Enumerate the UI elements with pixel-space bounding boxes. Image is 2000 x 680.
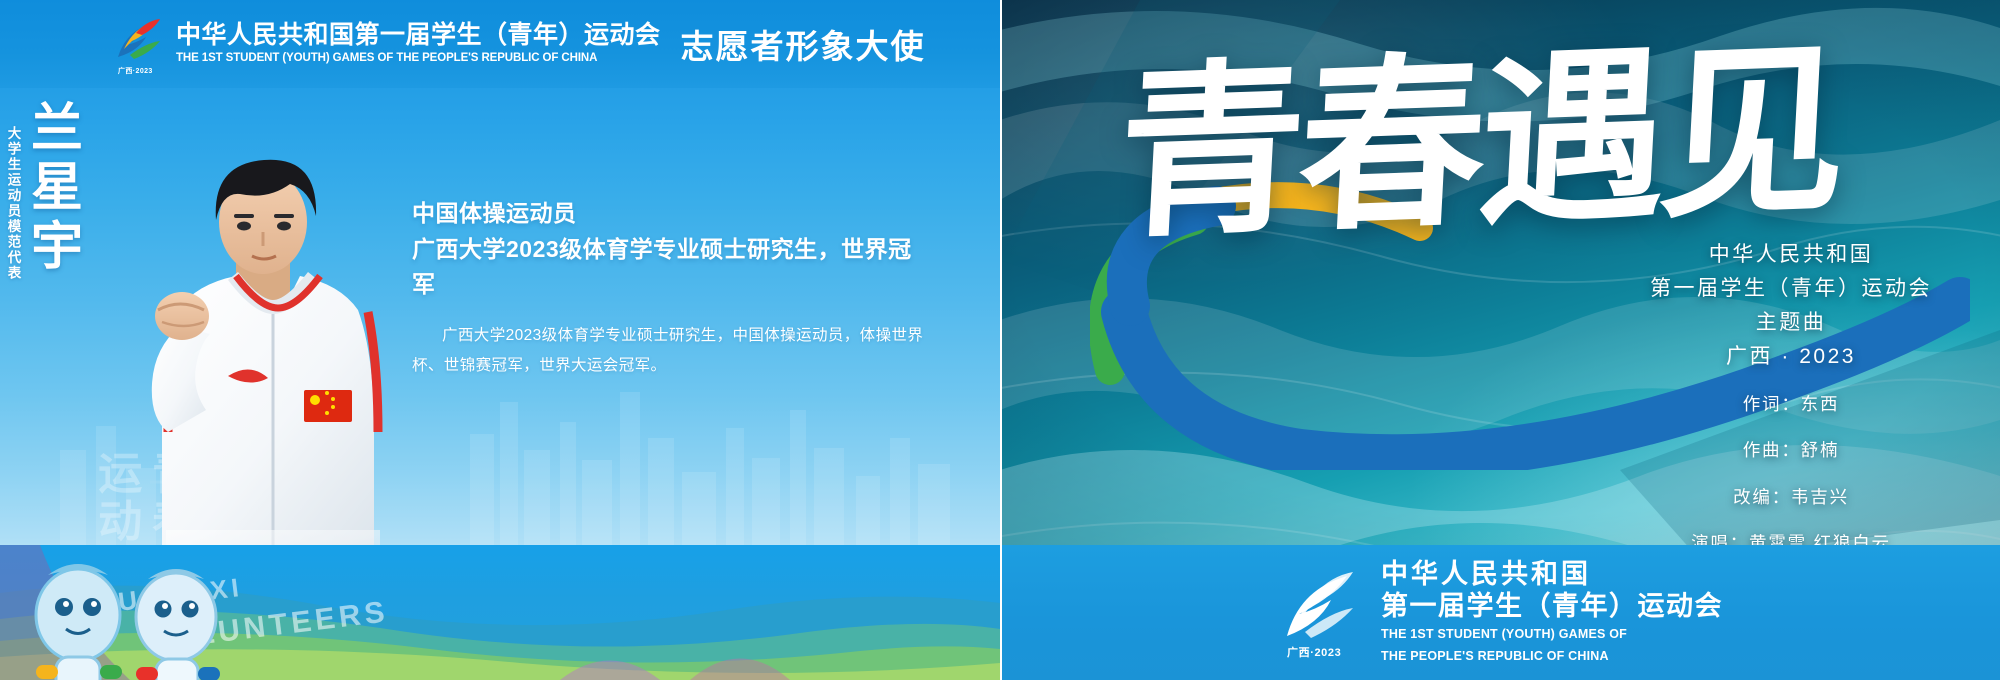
page-title: 志愿者形象大使 xyxy=(681,20,926,68)
emblem-subtext-large: 广西·2023 xyxy=(1287,644,1341,660)
theme-song-poster: 青春遇见 中华人民共和国 第一届学生（青年）运动会 主题曲 广西 · 2023 … xyxy=(1000,0,2000,680)
guangxi-games-emblem-icon-large: 广西·2023 xyxy=(1277,566,1363,660)
profile-role-line2: 广西大学2023级体育学专业硕士研究生，世界冠军 xyxy=(412,232,932,303)
footer-text-lockup: 中华人民共和国 第一届学生（青年）运动会 THE 1ST STUDENT (YO… xyxy=(1381,559,1723,665)
games-mascots-icon xyxy=(0,545,260,680)
footer-lockup-cn2: 第一届学生（青年）运动会 xyxy=(1381,591,1723,622)
credits-line-3: 主题曲 xyxy=(1650,306,1932,340)
guangxi-games-emblem-icon: 广西·2023 xyxy=(112,15,166,73)
profile-description: 广西大学2023级体育学专业硕士研究生，中国体操运动员，体操世界杯、世锦赛冠军，… xyxy=(412,321,932,381)
profile-text-block: 中国体操运动员 广西大学2023级体育学专业硕士研究生，世界冠军 广西大学202… xyxy=(412,196,932,381)
footer-lockup-en1: THE 1ST STUDENT (YOUTH) GAMES OF xyxy=(1381,626,1723,644)
lockup-chinese: 中华人民共和国第一届学生（青年）运动会 xyxy=(176,22,661,49)
credits-lyricist: 作词：东西 xyxy=(1650,388,1932,420)
panel-divider xyxy=(1000,0,1002,680)
credits-line-2: 第一届学生（青年）运动会 xyxy=(1650,272,1932,306)
poster-pair: 运动场 青春 xyxy=(0,0,2000,680)
footer-lockup-cn1: 中华人民共和国 xyxy=(1381,559,1723,590)
vertical-name-strip: 兰星宇 大学生运动员模范代表 xyxy=(6,100,78,400)
ambassador-name: 兰星宇 xyxy=(26,100,78,277)
credits-composer: 作曲：舒楠 xyxy=(1650,434,1932,466)
emblem-subtext: 广西·2023 xyxy=(118,66,153,76)
credits-arranger: 改编：韦吉兴 xyxy=(1650,481,1932,513)
footer-lockup: 广西·2023 中华人民共和国 第一届学生（青年）运动会 THE 1ST STU… xyxy=(1277,559,1723,665)
ambassador-subtitle: 大学生运动员模范代表 xyxy=(6,126,20,281)
card-footer-band: GUANGXI VOLUNTEERS xyxy=(0,545,1000,680)
profile-role-line1: 中国体操运动员 xyxy=(412,200,577,226)
calligraphy-title: 青春遇见 xyxy=(1114,31,2000,248)
poster-footer-band: 广西·2023 中华人民共和国 第一届学生（青年）运动会 THE 1ST STU… xyxy=(1000,545,2000,680)
credits-line-4: 广西 · 2023 xyxy=(1650,340,1932,374)
volunteer-ambassador-card: 运动场 青春 xyxy=(0,0,1000,680)
lockup-english: THE 1ST STUDENT (YOUTH) GAMES OF THE PEO… xyxy=(176,51,661,66)
credits-line-1: 中华人民共和国 xyxy=(1650,238,1932,272)
profile-role: 中国体操运动员 广西大学2023级体育学专业硕士研究生，世界冠军 xyxy=(412,196,932,303)
athlete-photo xyxy=(108,140,438,570)
card-header: 广西·2023 中华人民共和国第一届学生（青年）运动会 THE 1ST STUD… xyxy=(0,0,1000,88)
games-lockup: 中华人民共和国第一届学生（青年）运动会 THE 1ST STUDENT (YOU… xyxy=(176,22,661,66)
song-credits: 中华人民共和国 第一届学生（青年）运动会 主题曲 广西 · 2023 作词：东西… xyxy=(1650,238,1932,560)
footer-lockup-en2: THE PEOPLE'S REPUBLIC OF CHINA xyxy=(1381,648,1723,666)
